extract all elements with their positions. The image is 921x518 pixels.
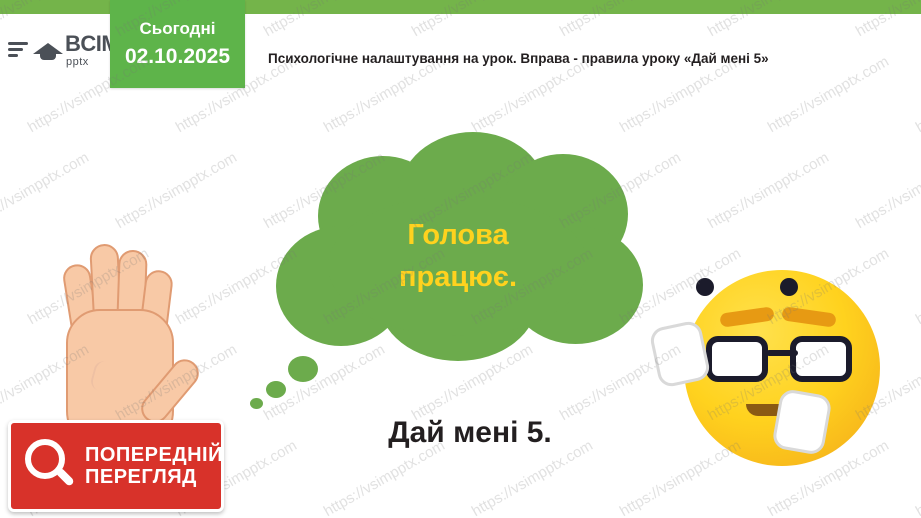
preview-badge-line2: ПЕРЕГЛЯД [85, 466, 223, 488]
bottom-caption: Дай мені 5. [310, 416, 630, 450]
magnifier-icon [21, 437, 79, 495]
today-label: Сьогодні [140, 19, 216, 39]
preview-badge-text: ПОПЕРЕДНІЙ ПЕРЕГЛЯД [85, 444, 223, 489]
bubble-text: Голова працює. [258, 214, 658, 298]
slide-header: BCIM pptx Сьогодні 02.10.2025 Психологіч… [0, 0, 921, 97]
header-accent-bar-right [245, 0, 921, 14]
bubble-text-line2: працює. [258, 256, 658, 298]
graduation-cap-icon [33, 37, 63, 63]
page-title: Психологічне налаштування на урок. Вправ… [268, 50, 908, 68]
slide-canvas: BCIM pptx Сьогодні 02.10.2025 Психологіч… [0, 0, 921, 518]
preview-badge[interactable]: ПОПЕРЕДНІЙ ПЕРЕГЛЯД [8, 420, 224, 512]
speed-lines-icon [8, 37, 30, 63]
glasses-icon [706, 334, 858, 386]
date-value: 02.10.2025 [125, 45, 230, 69]
bubble-text-line1: Голова [258, 214, 658, 256]
header-accent-bar-left [0, 0, 110, 14]
thought-bubble: Голова працює. [258, 126, 658, 406]
date-badge: Сьогодні 02.10.2025 [110, 0, 245, 88]
nerd-face-emoji [672, 264, 884, 476]
preview-badge-line1: ПОПЕРЕДНІЙ [85, 444, 223, 466]
